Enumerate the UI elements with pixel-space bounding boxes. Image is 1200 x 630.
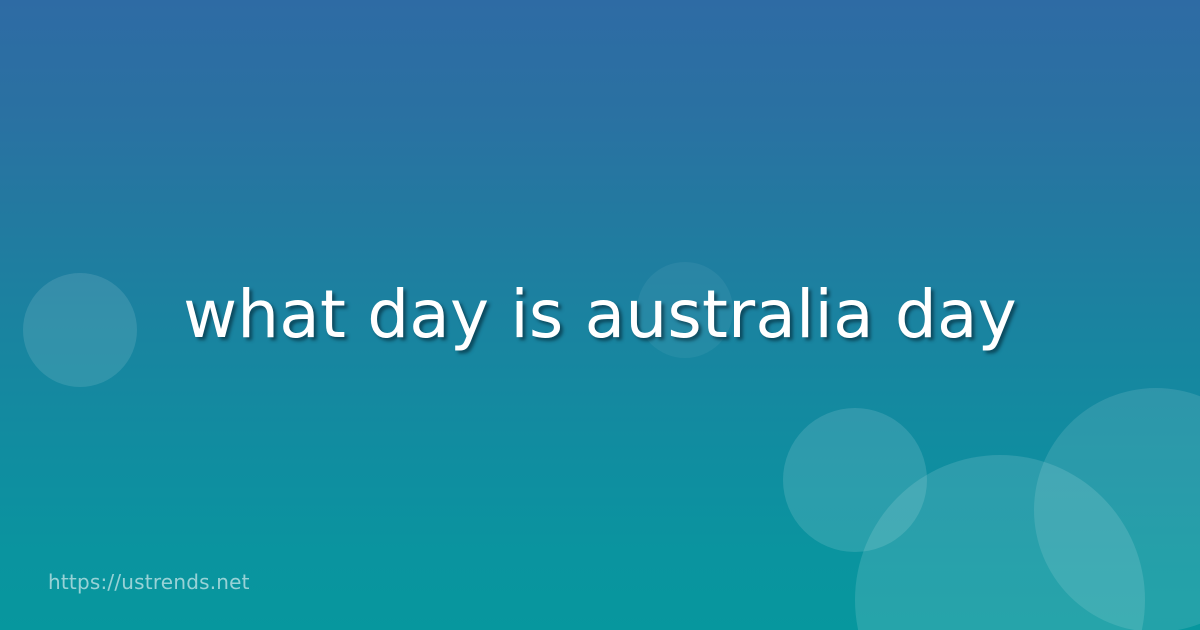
headline-container: what day is australia day [0, 0, 1200, 630]
social-share-card: what day is australia day https://ustren… [0, 0, 1200, 630]
site-url-label[interactable]: https://ustrends.net [48, 570, 250, 594]
page-title: what day is australia day [183, 277, 1017, 353]
